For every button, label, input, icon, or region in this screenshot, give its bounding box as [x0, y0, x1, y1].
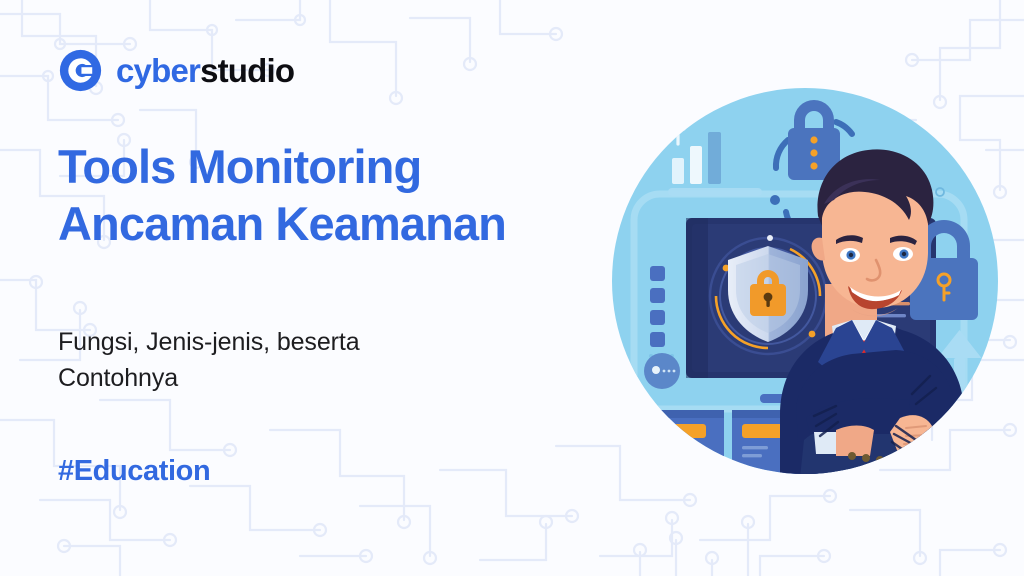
brand-name-secondary: studio: [200, 52, 294, 89]
page-subtitle: Fungsi, Jenis-jenis, beserta Contohnya: [58, 325, 528, 396]
brand-logo[interactable]: cyberstudio: [58, 48, 294, 93]
cybersecurity-specialist-illustration: [600, 88, 1020, 488]
hashtag-label: #Education: [58, 455, 210, 488]
headline-line-2: Ancaman Keamanan: [58, 197, 506, 250]
subtitle-line-1: Fungsi, Jenis-jenis, beserta: [58, 328, 360, 356]
banner-root: cyberstudio Tools Monitoring Ancaman Kea…: [0, 0, 1024, 576]
headline-line-1: Tools Monitoring: [58, 140, 421, 193]
brand-name: cyberstudio: [116, 54, 294, 87]
status-badge-icon: [644, 353, 680, 389]
brand-name-primary: cyber: [116, 52, 200, 89]
cyberstudio-circle-c-logo-icon: [58, 48, 103, 93]
page-title: Tools Monitoring Ancaman Keamanan: [58, 138, 638, 253]
subtitle-line-2: Contohnya: [58, 364, 178, 392]
